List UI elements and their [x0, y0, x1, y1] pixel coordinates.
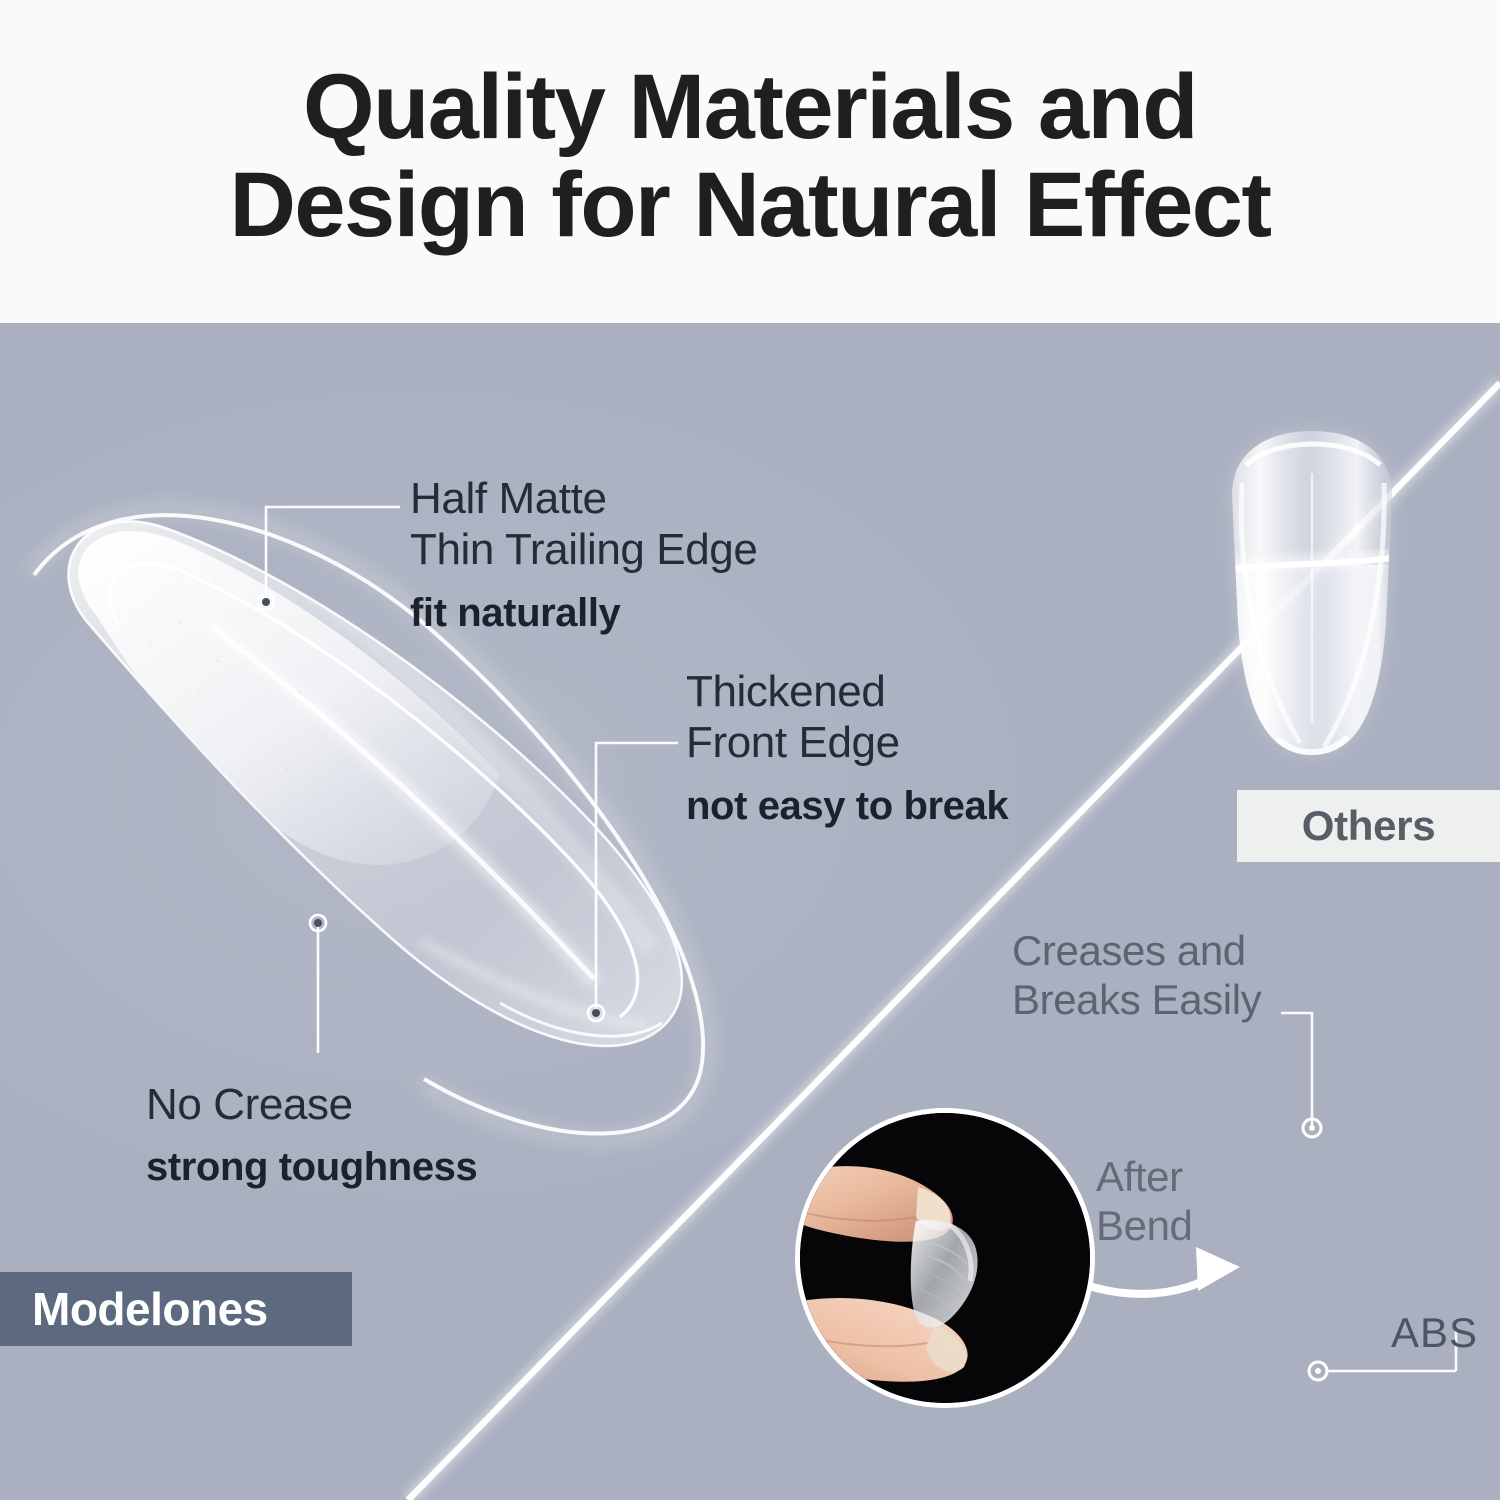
- annotation-thickened-sub: not easy to break: [686, 783, 1008, 829]
- annotation-creases-breaks: Creases and Breaks Easily: [1012, 926, 1261, 1024]
- leader-dot-icon: [314, 919, 322, 927]
- page-title: Quality Materials and Design for Natural…: [0, 58, 1500, 255]
- annotation-abs-head: ABS: [1391, 1308, 1478, 1357]
- page-title-line2: Design for Natural Effect: [0, 156, 1500, 254]
- annotation-no-crease-sub: strong toughness: [146, 1144, 477, 1190]
- brand-badge-modelones: Modelones: [0, 1272, 352, 1346]
- comparison-panel: Half Matte Thin Trailing Edge fit natura…: [0, 323, 1500, 1500]
- annotation-after-bend-head: After Bend: [1096, 1153, 1193, 1250]
- page-title-line1: Quality Materials and: [303, 56, 1197, 158]
- brand-badge-others: Others: [1237, 790, 1500, 862]
- brand-badge-modelones-label: Modelones: [0, 1282, 268, 1336]
- fingers-bending-nail-photo: [800, 1113, 1090, 1403]
- annotation-after-bend: After Bend: [1096, 1153, 1193, 1250]
- header-band: Quality Materials and Design for Natural…: [0, 0, 1500, 323]
- photo-content: [800, 1113, 1090, 1403]
- leader-dot-icon: [592, 1009, 600, 1017]
- annotation-half-matte: Half Matte Thin Trailing Edge fit natura…: [410, 473, 757, 636]
- annotation-no-crease-head: No Crease: [146, 1079, 477, 1130]
- annotation-no-crease: No Crease strong toughness: [146, 1079, 477, 1190]
- leader-line-no-crease: [310, 915, 326, 1053]
- brand-badge-others-label: Others: [1302, 802, 1436, 850]
- infographic-canvas: Quality Materials and Design for Natural…: [0, 0, 1500, 1500]
- leader-dot-icon: [262, 598, 270, 606]
- leader-dot-icon: [1315, 1368, 1321, 1374]
- annotation-half-matte-sub: fit naturally: [410, 590, 757, 636]
- annotation-half-matte-head: Half Matte Thin Trailing Edge: [410, 473, 757, 576]
- annotation-thickened-head: Thickened Front Edge: [686, 666, 1008, 769]
- abs-nail-tip: [1225, 431, 1405, 765]
- annotation-creases-head: Creases and Breaks Easily: [1012, 926, 1261, 1024]
- leader-dot-icon: [1309, 1125, 1315, 1131]
- annotation-thickened-front-edge: Thickened Front Edge not easy to break: [686, 666, 1008, 829]
- leader-line-creases: [1281, 1013, 1321, 1137]
- annotation-abs-material: ABS: [1391, 1308, 1478, 1357]
